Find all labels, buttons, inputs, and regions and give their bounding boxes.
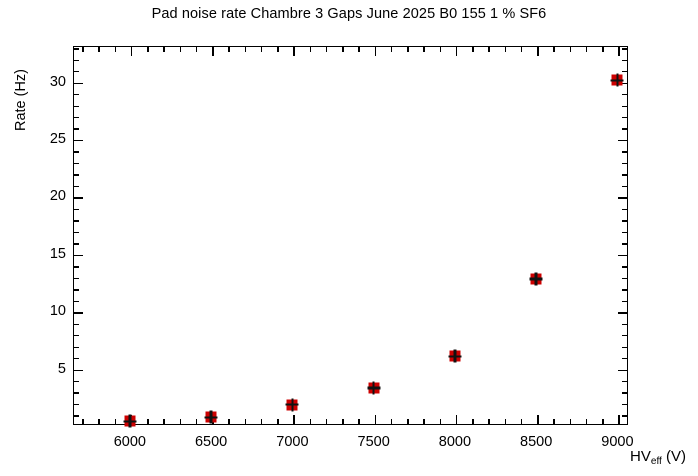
y-axis-tick-label: 5: [58, 361, 66, 377]
y-tick-minor: [74, 71, 79, 72]
x-tick-top-minor: [115, 47, 116, 52]
x-tick-minor: [342, 419, 343, 424]
data-point: [368, 383, 379, 394]
x-tick-minor: [98, 419, 99, 424]
y-tick-minor: [74, 186, 79, 187]
x-tick-minor: [82, 419, 83, 424]
y-tick-right-minor: [622, 278, 627, 279]
x-tick-minor: [423, 419, 424, 424]
y-tick-right-minor: [622, 151, 627, 152]
error-bar-horizontal: [530, 278, 543, 280]
x-axis-title: HVeff (V): [630, 448, 686, 465]
x-tick-top-minor: [570, 47, 571, 52]
y-tick-minor: [74, 48, 79, 49]
error-bar-horizontal: [205, 416, 218, 418]
y-tick-right-minor: [622, 128, 627, 129]
error-bar-horizontal: [123, 420, 136, 422]
y-tick-right-minor: [622, 174, 627, 175]
y-axis-tick-label: 25: [50, 131, 66, 147]
y-tick-minor: [74, 117, 79, 118]
y-tick-right-minor: [622, 243, 627, 244]
y-tick-right-major: [618, 370, 627, 371]
plot-frame: [73, 46, 628, 425]
y-tick-minor: [74, 243, 79, 244]
y-axis-tick-label: 15: [50, 246, 66, 262]
x-tick-top-minor: [553, 47, 554, 52]
x-axis-tick-label: 7000: [276, 434, 308, 450]
x-tick-top-minor: [163, 47, 164, 52]
y-tick-minor: [74, 60, 79, 61]
x-tick-top-minor: [180, 47, 181, 52]
y-tick-major: [74, 255, 83, 256]
y-tick-minor: [74, 404, 79, 405]
x-tick-minor: [115, 419, 116, 424]
y-tick-minor: [74, 128, 79, 129]
x-tick-minor: [310, 419, 311, 424]
error-bar-horizontal: [448, 355, 461, 357]
y-tick-right-minor: [622, 48, 627, 49]
y-tick-minor: [74, 151, 79, 152]
x-tick-minor: [261, 419, 262, 424]
x-tick-top-minor: [277, 47, 278, 52]
x-tick-top-minor: [391, 47, 392, 52]
y-tick-major: [74, 370, 83, 371]
y-tick-right-minor: [622, 232, 627, 233]
x-tick-top-minor: [472, 47, 473, 52]
x-tick-major: [456, 415, 457, 424]
x-tick-minor: [505, 419, 506, 424]
x-axis-title-unit: (V): [662, 448, 686, 465]
y-tick-right-minor: [622, 71, 627, 72]
y-axis-tick-label: 10: [50, 303, 66, 319]
x-tick-major: [618, 415, 619, 424]
x-tick-top-major: [131, 47, 132, 56]
x-tick-top-major: [212, 47, 213, 56]
x-tick-top-major: [618, 47, 619, 56]
y-tick-right-major: [618, 140, 627, 141]
y-tick-minor: [74, 392, 79, 393]
x-tick-minor: [326, 419, 327, 424]
y-tick-minor: [74, 209, 79, 210]
x-tick-minor: [196, 419, 197, 424]
data-point: [206, 412, 217, 423]
error-bar-horizontal: [367, 387, 380, 389]
y-tick-minor: [74, 266, 79, 267]
x-tick-top-minor: [423, 47, 424, 52]
y-tick-minor: [74, 347, 79, 348]
y-tick-right-minor: [622, 220, 627, 221]
y-tick-right-minor: [622, 117, 627, 118]
x-tick-minor: [472, 419, 473, 424]
x-tick-major: [293, 415, 294, 424]
data-point: [124, 416, 135, 427]
x-tick-top-minor: [586, 47, 587, 52]
x-tick-minor: [586, 419, 587, 424]
x-tick-top-minor: [228, 47, 229, 52]
x-tick-major: [537, 415, 538, 424]
data-point: [449, 351, 460, 362]
x-tick-top-minor: [245, 47, 246, 52]
x-tick-top-minor: [196, 47, 197, 52]
x-axis-tick-label: 6500: [195, 434, 227, 450]
x-tick-minor: [391, 419, 392, 424]
y-tick-right-major: [618, 197, 627, 198]
y-tick-right-minor: [622, 266, 627, 267]
x-tick-top-major: [537, 47, 538, 56]
y-tick-right-major: [618, 312, 627, 313]
y-axis-title-text: Rate (Hz): [13, 69, 29, 131]
y-tick-right-minor: [622, 392, 627, 393]
x-tick-minor: [521, 419, 522, 424]
x-tick-top-minor: [488, 47, 489, 52]
y-tick-minor: [74, 106, 79, 107]
y-tick-right-minor: [622, 335, 627, 336]
error-bar-horizontal: [286, 403, 299, 405]
x-tick-minor: [407, 419, 408, 424]
y-tick-major: [74, 83, 83, 84]
y-tick-right-minor: [622, 415, 627, 416]
x-tick-top-minor: [261, 47, 262, 52]
y-tick-minor: [74, 335, 79, 336]
y-axis-title: Rate (Hz): [10, 46, 32, 425]
x-tick-top-minor: [342, 47, 343, 52]
y-tick-minor: [74, 381, 79, 382]
y-tick-minor: [74, 415, 79, 416]
x-tick-minor: [440, 419, 441, 424]
x-axis-tick-label: 8000: [439, 434, 471, 450]
x-tick-minor: [553, 419, 554, 424]
x-tick-top-minor: [147, 47, 148, 52]
x-tick-minor: [245, 419, 246, 424]
x-axis-tick-label: 9000: [601, 434, 633, 450]
x-tick-minor: [488, 419, 489, 424]
y-tick-minor: [74, 232, 79, 233]
x-tick-top-minor: [521, 47, 522, 52]
y-axis-tick-label: 30: [50, 74, 66, 90]
plot-area: [74, 47, 627, 424]
x-tick-minor: [228, 419, 229, 424]
y-tick-minor: [74, 289, 79, 290]
x-axis-tick-label: 6000: [114, 434, 146, 450]
x-tick-top-minor: [98, 47, 99, 52]
y-tick-right-minor: [622, 94, 627, 95]
y-tick-right-major: [618, 255, 627, 256]
x-tick-major: [375, 415, 376, 424]
y-tick-minor: [74, 278, 79, 279]
data-point: [287, 399, 298, 410]
x-tick-top-minor: [82, 47, 83, 52]
y-tick-right-minor: [622, 347, 627, 348]
x-axis-title-subscript: eff: [651, 456, 662, 467]
y-axis-tick-label: 20: [50, 188, 66, 204]
y-tick-right-minor: [622, 301, 627, 302]
y-tick-right-minor: [622, 381, 627, 382]
data-point: [612, 75, 623, 86]
y-tick-right-minor: [622, 324, 627, 325]
x-tick-top-major: [375, 47, 376, 56]
x-tick-top-minor: [505, 47, 506, 52]
x-tick-minor: [602, 419, 603, 424]
x-tick-minor: [147, 419, 148, 424]
data-point: [531, 274, 542, 285]
x-tick-minor: [570, 419, 571, 424]
x-axis-title-base: HV: [630, 448, 651, 465]
x-tick-top-minor: [310, 47, 311, 52]
y-tick-right-minor: [622, 209, 627, 210]
y-tick-minor: [74, 324, 79, 325]
x-axis-tick-label: 7500: [358, 434, 390, 450]
x-tick-top-major: [456, 47, 457, 56]
y-tick-minor: [74, 358, 79, 359]
y-tick-major: [74, 312, 83, 313]
y-tick-right-minor: [622, 404, 627, 405]
y-tick-major: [74, 140, 83, 141]
x-tick-top-minor: [358, 47, 359, 52]
x-tick-minor: [277, 419, 278, 424]
y-tick-minor: [74, 174, 79, 175]
y-tick-right-minor: [622, 106, 627, 107]
x-tick-top-major: [293, 47, 294, 56]
y-tick-right-minor: [622, 289, 627, 290]
x-tick-top-minor: [407, 47, 408, 52]
x-tick-minor: [358, 419, 359, 424]
x-tick-minor: [163, 419, 164, 424]
y-tick-minor: [74, 163, 79, 164]
y-tick-minor: [74, 220, 79, 221]
chart-canvas: Pad noise rate Chambre 3 Gaps June 2025 …: [0, 0, 698, 476]
y-tick-minor: [74, 301, 79, 302]
chart-title: Pad noise rate Chambre 3 Gaps June 2025 …: [0, 6, 698, 22]
y-tick-right-minor: [622, 163, 627, 164]
y-tick-major: [74, 197, 83, 198]
y-tick-minor: [74, 94, 79, 95]
x-axis-tick-label: 8500: [520, 434, 552, 450]
x-tick-minor: [180, 419, 181, 424]
y-tick-right-minor: [622, 358, 627, 359]
y-tick-right-minor: [622, 60, 627, 61]
x-tick-top-minor: [326, 47, 327, 52]
x-tick-top-minor: [602, 47, 603, 52]
error-bar-horizontal: [611, 79, 624, 81]
x-tick-top-minor: [440, 47, 441, 52]
y-tick-right-minor: [622, 186, 627, 187]
